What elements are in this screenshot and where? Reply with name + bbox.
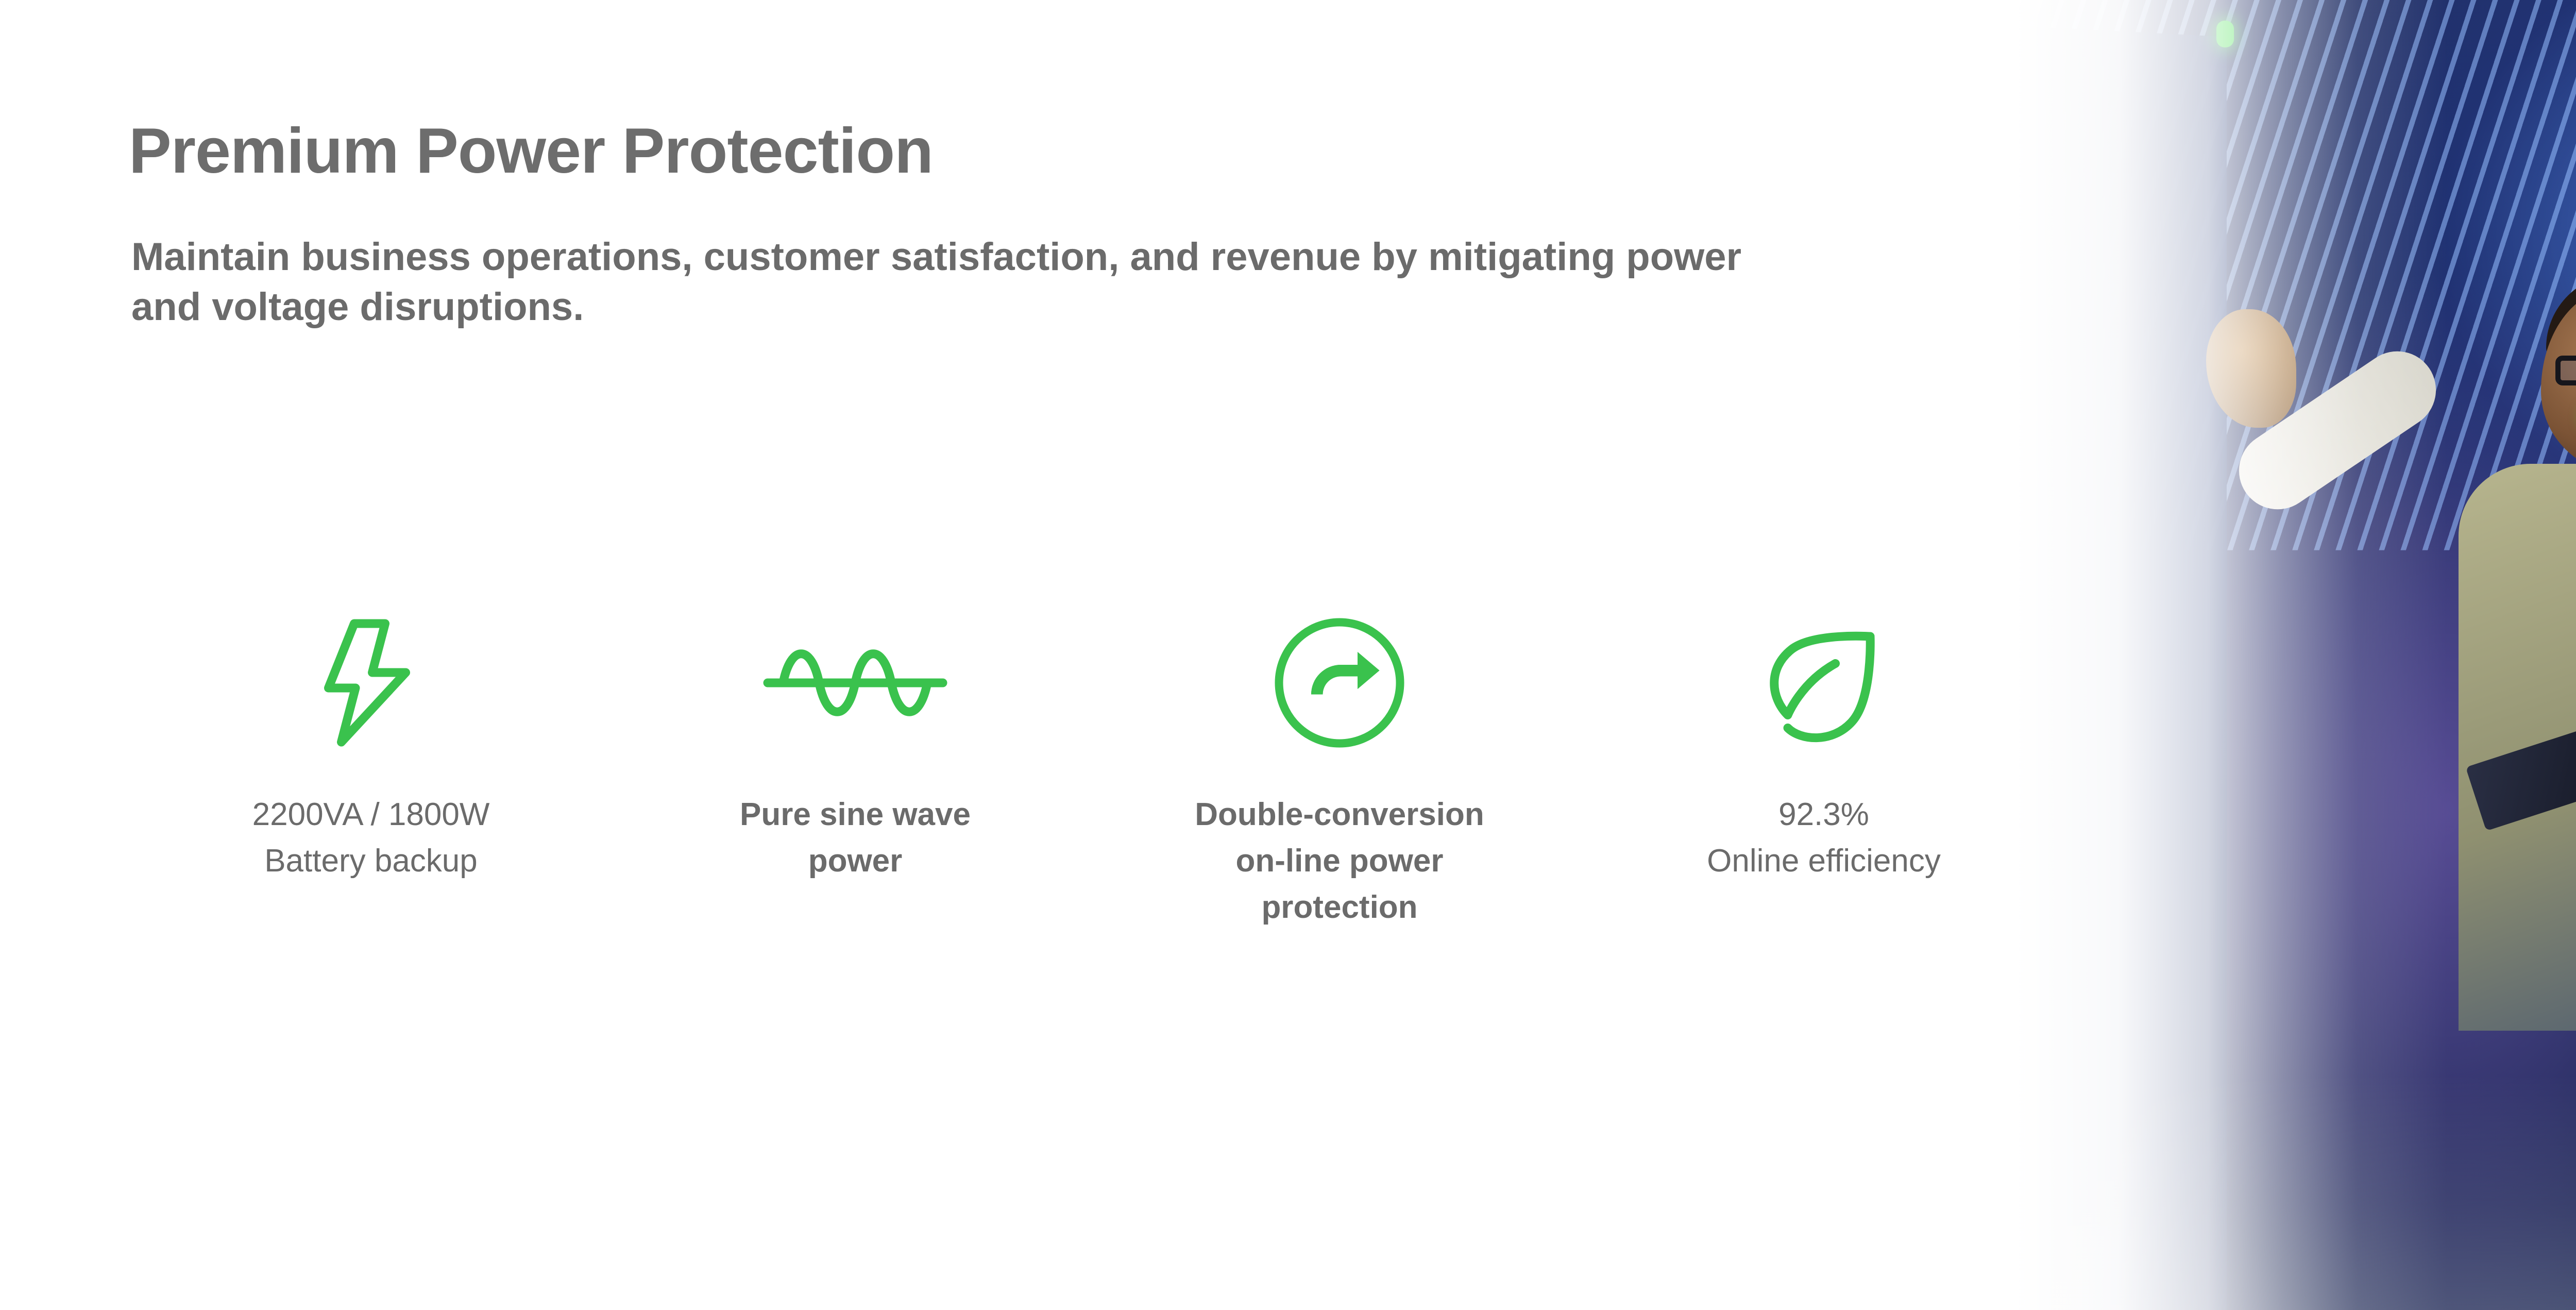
eyeglasses-icon [2555, 356, 2576, 385]
lightning-bolt-icon [317, 598, 425, 768]
hero-banner: Premium Power Protection Maintain busine… [0, 0, 2576, 1310]
leaf-icon [1754, 598, 1893, 768]
feature-label-line2: on-line power [1195, 838, 1484, 884]
feature-label-line3: protection [1195, 884, 1484, 931]
feature-label: 2200VA / 1800W Battery backup [252, 792, 490, 884]
feature-label-line1: Double-conversion [1195, 792, 1484, 838]
status-led-indicator [2216, 21, 2234, 47]
feature-label: 92.3% Online efficiency [1707, 792, 1941, 884]
feature-label: Double-conversion on-line power protecti… [1195, 792, 1484, 931]
feature-label-line2: power [740, 838, 971, 884]
feature-label-line2: Online efficiency [1707, 838, 1941, 884]
feature-label-line2: Battery backup [252, 838, 490, 884]
page-subtitle: Maintain business operations, customer s… [131, 232, 1780, 332]
sine-wave-icon [760, 598, 951, 768]
feature-label-line1: 2200VA / 1800W [252, 792, 490, 838]
feature-label-line1: 92.3% [1707, 792, 1941, 838]
feature-list: 2200VA / 1800W Battery backup Pure sine … [129, 598, 2066, 931]
feature-label-line1: Pure sine wave [740, 792, 971, 838]
hero-content: Premium Power Protection Maintain busine… [0, 0, 2215, 1310]
page-title: Premium Power Protection [129, 114, 933, 188]
feature-label: Pure sine wave power [740, 792, 971, 884]
feature-item-pure-sine-wave: Pure sine wave power [613, 598, 1097, 884]
double-conversion-cycle-icon [1270, 598, 1409, 768]
feature-item-online-efficiency: 92.3% Online efficiency [1582, 598, 2066, 884]
feature-item-battery-backup: 2200VA / 1800W Battery backup [129, 598, 613, 884]
feature-item-double-conversion: Double-conversion on-line power protecti… [1097, 598, 1582, 931]
